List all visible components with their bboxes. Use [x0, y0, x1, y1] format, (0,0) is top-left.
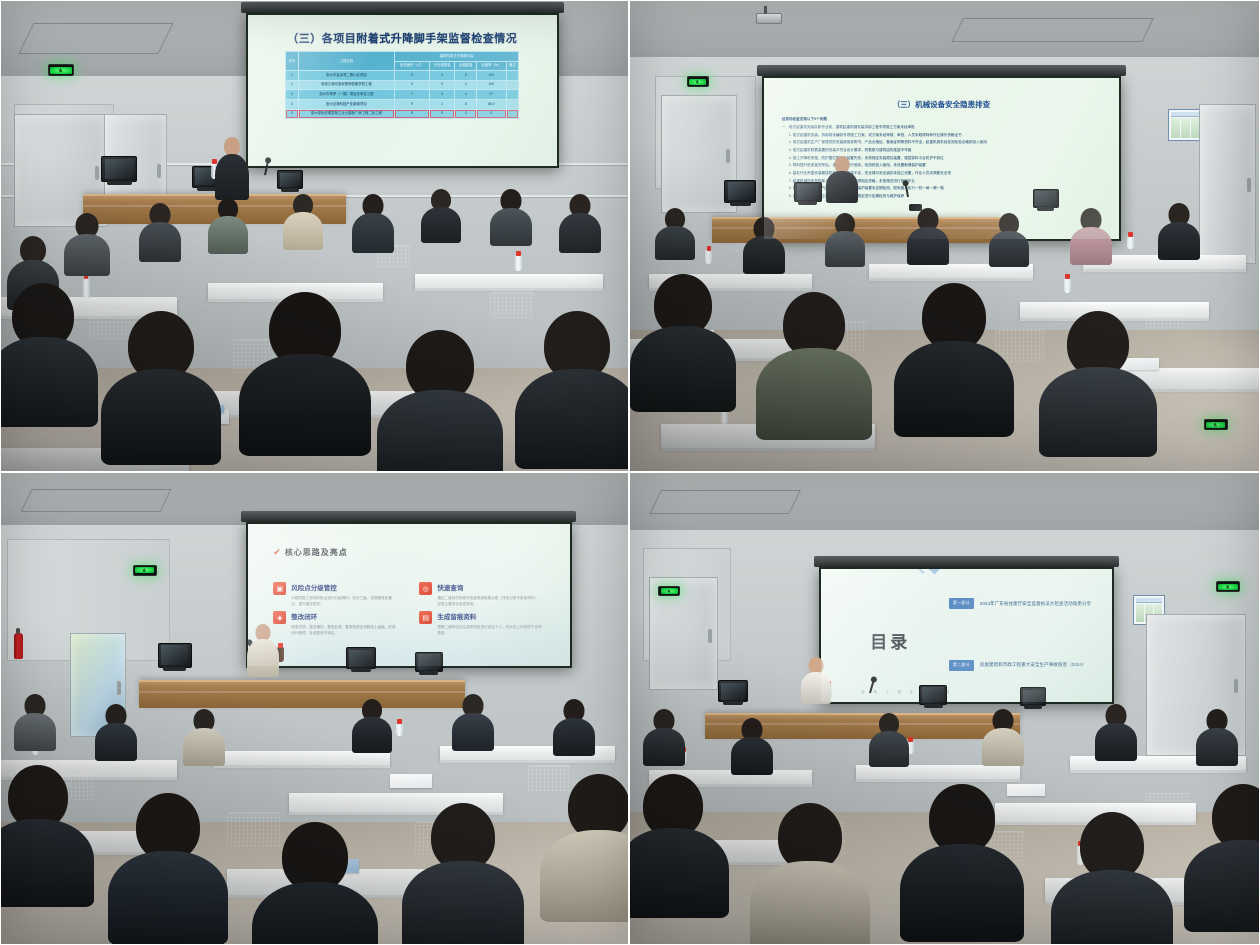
- bullet-line: 2. 塔式起重机生产厂家提供的安装使用说明书、产品合格证、备案证明等资料不齐全，…: [782, 139, 1101, 146]
- audience-member: [553, 699, 595, 753]
- audience-member: [869, 713, 909, 765]
- audience-member-foreground: [377, 330, 503, 470]
- screen-roller: [241, 511, 577, 522]
- slide-title: （三）各项目附着式升降脚手架监督检查情况: [266, 30, 538, 46]
- audience-member-foreground: [108, 793, 228, 933]
- audience-member: [1070, 208, 1112, 262]
- feature-item: ◈ 整改闭环 隐患发现、整改通知、整改反馈、复查验收全流程线上留痕，形成闭环管理…: [273, 611, 397, 636]
- search-icon: ◎: [419, 582, 432, 595]
- torso: [215, 154, 249, 200]
- slide-table: （三）各项目附着式升降脚手架监督检查情况 序号 工程名称 建筑附着式升降脚手架 …: [248, 15, 558, 166]
- col-group: 建筑附着式升降脚手架: [394, 52, 518, 62]
- presenter-seated: [825, 156, 859, 202]
- monitor: [724, 180, 756, 203]
- presenter-seated: [800, 657, 832, 703]
- audience-member-foreground: [1184, 784, 1260, 922]
- audience-member-foreground: [515, 311, 629, 457]
- feature-grid: ▣ 风险点分级管控 对建筑施工现场风险点进行分级辨识，划分三级，实现精准化管控，…: [273, 582, 544, 632]
- exit-sign-icon: [1204, 419, 1228, 430]
- col-rate: 合格率（%）: [476, 61, 506, 71]
- contents-row: 第二部分 房屋建筑和市政工程重大安全生产事故隐患（2024）: [949, 660, 1098, 671]
- audience-member-photographing: [907, 208, 949, 262]
- audience-member: [743, 217, 785, 271]
- screen-roller: [814, 556, 1118, 567]
- audience-member: [421, 189, 461, 241]
- feature-heading: 快速查询: [437, 582, 543, 592]
- audience-member-foreground: [239, 292, 371, 442]
- audience-member: [139, 203, 181, 259]
- section-text: 2024年广东省住建厅安全监督执法大检查活动隐患分享: [980, 600, 1091, 608]
- water-bottle: [1127, 236, 1134, 249]
- audience-member: [95, 704, 137, 758]
- monitor: [718, 680, 748, 702]
- audience-member: [1158, 203, 1200, 257]
- monitor: [1033, 189, 1059, 208]
- audience-member: [731, 718, 773, 772]
- contents-row: 第一部分 2024年广东省住建厅安全监督执法大检查活动隐患分享: [949, 598, 1098, 609]
- audience-member-foreground: [1051, 812, 1173, 945]
- check-icon: ✔: [273, 548, 281, 557]
- feature-body: 通过二维码扫码即可快速调用隐患台账（排查记录专家库资料），实现主要安全信息查询。: [437, 595, 543, 607]
- podium: [139, 680, 465, 708]
- papers: [390, 774, 432, 788]
- audience-member: [989, 213, 1029, 265]
- risk-icon: ▣: [273, 582, 286, 595]
- bullet-line: 一、塔式起重机安装拆卸作业前，建筑起重机械安装拆卸工程专项施工方案未经审批: [782, 124, 1101, 131]
- section-text: 房屋建筑和市政工程重大安全生产事故隐患（2024）: [980, 661, 1087, 669]
- photo-panel-top-left[interactable]: （三）各项目附着式升降脚手架监督检查情况 序号 工程名称 建筑附着式升降脚手架 …: [0, 0, 629, 472]
- monitor: [346, 647, 376, 669]
- exit-sign-icon: [658, 586, 680, 596]
- monitor: [101, 156, 137, 182]
- audience-member: [643, 709, 685, 763]
- table-row: 1惠州市金泽湾二期小区项目505100: [286, 71, 519, 81]
- audience-member-foreground: [630, 274, 736, 400]
- bullet-line: 1. 塔式起重机安装、拆卸前未编制专项施工方案，或方案未经审核、审批，人员未取得…: [782, 132, 1101, 139]
- slide-contents: 目录 第一部分 2024年广东省住建厅安全监督执法大检查活动隐患分享 第二部分 …: [821, 569, 1113, 702]
- exit-sign-icon: [1216, 581, 1240, 592]
- audience-member: [64, 213, 110, 273]
- wall-notice-board: [1168, 109, 1202, 141]
- slide-features: ✔ 核心思路及亮点 ▣ 风险点分级管控 对建筑施工现场风险点进行分级辨识，划分三…: [248, 524, 570, 666]
- feature-heading: 生成留痕资料: [437, 611, 543, 621]
- door: [1199, 104, 1256, 264]
- photo-collage: （三）各项目附着式升降脚手架监督检查情况 序号 工程名称 建筑附着式升降脚手架 …: [0, 0, 1260, 945]
- fire-extinguisher-icon: [14, 633, 23, 659]
- table-row: 4惠州空港科技产业新城项目91888.9: [286, 100, 519, 110]
- doc-icon: ▤: [419, 611, 432, 624]
- presenter: [214, 137, 250, 199]
- ceiling-projector-icon: [756, 13, 782, 24]
- water-bottle: [1064, 278, 1071, 293]
- desk: [415, 274, 603, 288]
- audience-member: [283, 194, 323, 248]
- section-tag: 第一部分: [949, 598, 974, 609]
- audience-member: [208, 198, 248, 252]
- monitor: [1020, 687, 1046, 706]
- audience-member-foreground: [1039, 311, 1157, 445]
- audience-member: [490, 189, 532, 243]
- col-area: 检查面积（㎡）: [394, 61, 429, 71]
- monitor: [415, 652, 443, 672]
- audience-member-foreground: [0, 283, 98, 413]
- bullet-line: 3. 塔式起重机附着装置的安装不符合设计要求，附着框与建筑结构连接不牢固: [782, 147, 1101, 154]
- audience-member-foreground: [101, 311, 221, 451]
- audience-member-foreground: [750, 803, 870, 943]
- contents-title: 目录: [870, 628, 910, 653]
- smartphone: [909, 204, 922, 211]
- audience-member-foreground: [252, 822, 378, 945]
- presenter-with-mic: [246, 624, 280, 676]
- audience-member: [559, 194, 601, 250]
- audience-member: [352, 699, 392, 751]
- monitor: [794, 182, 822, 202]
- scaffold-inspection-table: 序号 工程名称 建筑附着式升降脚手架 检查面积（㎡） 不合格数量 合格数量 合格…: [285, 51, 519, 119]
- feature-heading: 风险点分级管控: [291, 582, 397, 592]
- photo-panel-top-right[interactable]: （三）机械设备安全隐患排查 经现场检查发现以下9个问题 一、塔式起重机安装拆卸作…: [629, 0, 1260, 472]
- screen-roller: [757, 65, 1126, 76]
- projection-screen: （三）各项目附着式升降脚手架监督检查情况 序号 工程名称 建筑附着式升降脚手架 …: [246, 13, 560, 168]
- audience-member: [183, 709, 225, 763]
- monitor: [277, 170, 303, 189]
- monitor: [919, 685, 947, 705]
- audience-member: [825, 213, 865, 265]
- projection-screen: 目录 第一部分 2024年广东省住建厅安全监督执法大检查活动隐患分享 第二部分 …: [819, 567, 1115, 704]
- photo-panel-bottom-right[interactable]: 目录 第一部分 2024年广东省住建厅安全监督执法大检查活动隐患分享 第二部分 …: [629, 472, 1260, 945]
- exit-sign-icon: [133, 565, 157, 576]
- photo-panel-bottom-left[interactable]: ✔ 核心思路及亮点 ▣ 风险点分级管控 对建筑施工现场风险点进行分级辨识，划分三…: [0, 472, 629, 945]
- col-pass: 合格数量: [455, 61, 476, 71]
- loop-icon: ◈: [273, 611, 286, 624]
- audience-member-foreground: [402, 803, 524, 945]
- col-note: 备注: [506, 61, 519, 71]
- audience-member-foreground: [0, 765, 94, 897]
- exit-sign-icon: [687, 76, 709, 87]
- audience-member: [452, 694, 494, 748]
- water-bottle: [705, 250, 712, 264]
- audience-member-foreground: [894, 283, 1014, 425]
- feature-heading: 整改闭环: [291, 611, 397, 621]
- table-body: 1惠州市金泽湾二期小区项目505100 2惠城江南改造安置房配套学校工程3031…: [286, 71, 519, 119]
- monitor: [158, 643, 192, 668]
- col-project: 工程名称: [298, 52, 394, 71]
- audience-member-foreground: [629, 774, 729, 906]
- table-row-highlighted: 5惠州绿色低碳智慧工业小镇标厂房工程二标工程5500: [286, 109, 519, 119]
- audience-member: [14, 694, 56, 748]
- audience-member-foreground: [900, 784, 1024, 928]
- table-row: 3惠州市博罗（一期）项目总承包工程73457: [286, 90, 519, 100]
- col-fail: 不合格数量: [429, 61, 455, 71]
- slide-intro: 经现场检查发现以下9个问题: [782, 116, 1101, 123]
- feature-item: ▤ 生成留痕资料 按照二维码自动生成现场检查记录及个人，同步线上存档便于追溯核查…: [419, 611, 543, 636]
- water-bottle: [396, 723, 403, 736]
- projection-screen: ✔ 核心思路及亮点 ▣ 风险点分级管控 对建筑施工现场风险点进行分级辨识，划分三…: [246, 522, 572, 668]
- audience-member-foreground: [540, 774, 629, 912]
- feature-body: 隐患发现、整改通知、整改反馈、复查验收全流程线上留痕，形成闭环管理，杜绝整改不到…: [291, 624, 397, 636]
- col-index: 序号: [286, 52, 299, 71]
- feature-body: 按照二维码自动生成现场检查记录及个人，同步线上存档便于追溯核查。: [437, 624, 543, 636]
- section-tag: 第二部分: [949, 660, 974, 671]
- feature-item: ◎ 快速查询 通过二维码扫码即可快速调用隐患台账（排查记录专家库资料），实现主要…: [419, 582, 543, 607]
- feature-body: 对建筑施工现场风险点进行分级辨识，划分三级，实现精准化管控，提升管控质效。: [291, 595, 397, 607]
- screen-roller: [241, 2, 564, 13]
- audience-member-foreground: [756, 292, 872, 428]
- audience-member: [982, 709, 1024, 763]
- feature-item: ▣ 风险点分级管控 对建筑施工现场风险点进行分级辨识，划分三级，实现精准化管控，…: [273, 582, 397, 607]
- slide-title: （三）机械设备安全隐患排查: [782, 99, 1101, 110]
- audience-member: [1095, 704, 1137, 758]
- audience-member: [1196, 709, 1238, 763]
- audience-member: [655, 208, 695, 258]
- audience-member: [352, 194, 394, 250]
- slide-title: 核心思路及亮点: [285, 547, 348, 558]
- exit-sign-icon: [48, 64, 74, 76]
- water-bottle: [515, 255, 522, 271]
- table-row: 2惠城江南改造安置房配套学校工程303100: [286, 80, 519, 90]
